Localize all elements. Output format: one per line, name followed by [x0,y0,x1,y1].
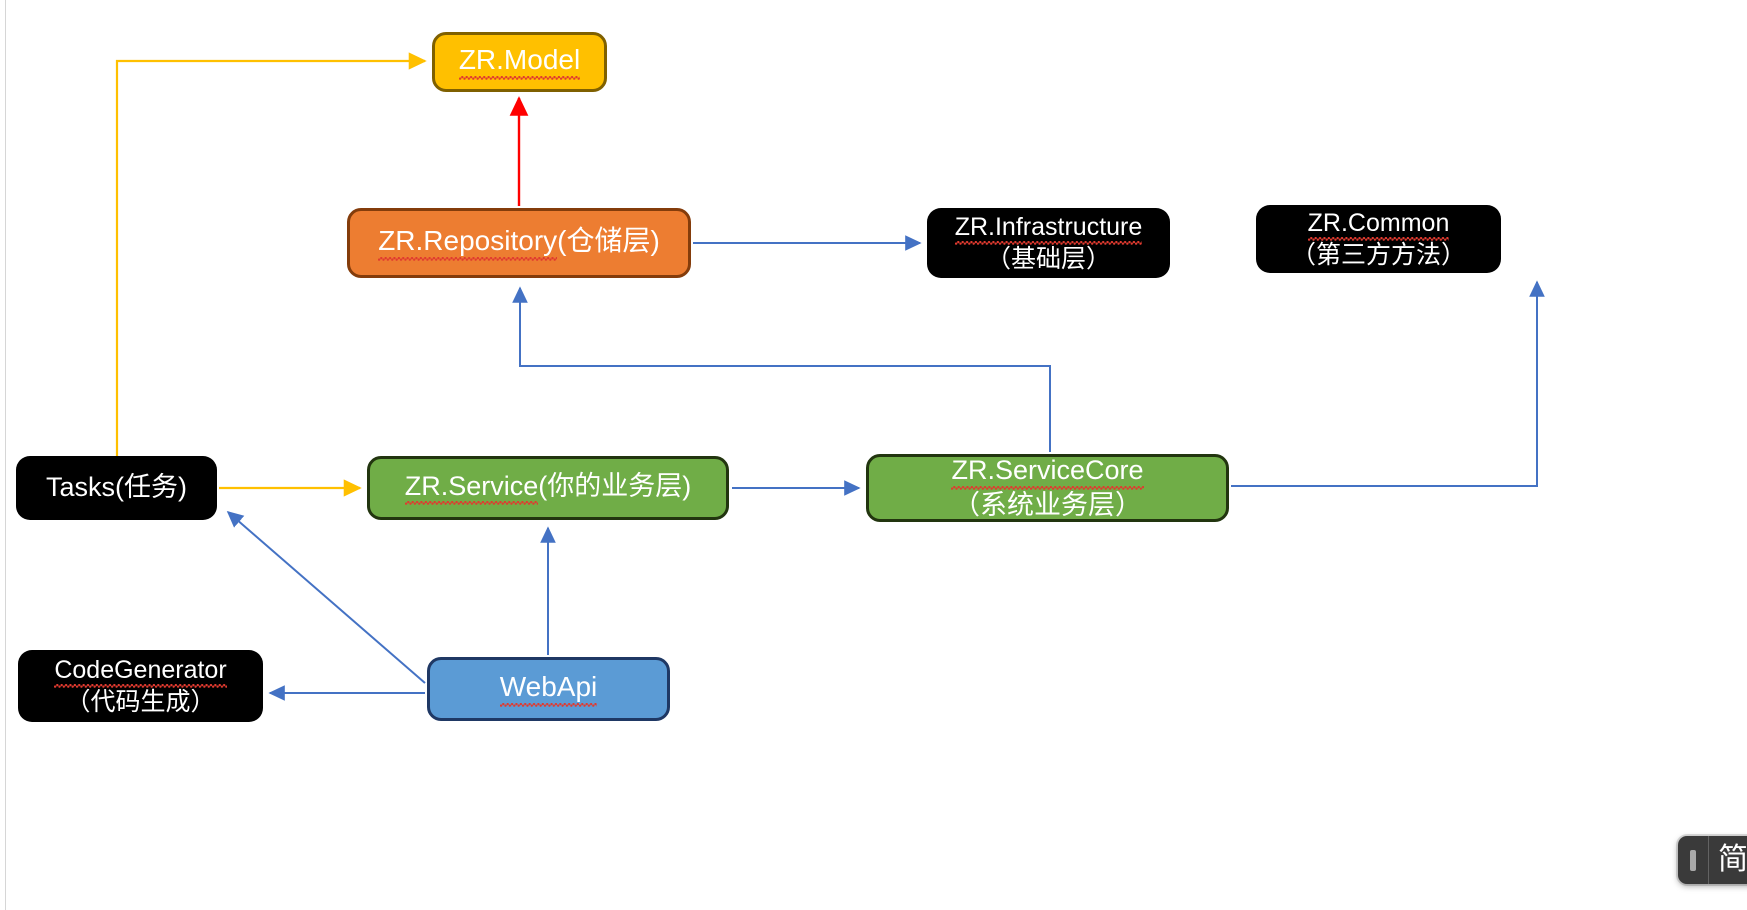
node-zr-infrastructure-sublabel: （基础层） [986,245,1111,274]
node-zr-common-label: ZR.Common [1308,209,1450,241]
node-zr-servicecore-sublabel: （系统业务层） [953,490,1142,521]
ime-drag-handle[interactable] [1678,836,1708,884]
node-codegenerator-sublabel: （代码生成） [65,688,215,717]
node-zr-service-label: ZR.Service [405,471,539,505]
edge-zr-servicecore-to-zr-repository [520,288,1050,452]
node-zr-service[interactable]: ZR.Service(你的业务层) [367,456,729,520]
ime-language-label[interactable]: 简 [1709,836,1747,884]
drag-handle-icon [1690,850,1696,871]
node-zr-repository-label: ZR.Repository [378,225,557,260]
node-codegenerator[interactable]: CodeGenerator （代码生成） [18,650,263,722]
node-tasks[interactable]: Tasks(任务) [16,456,217,520]
diagram-canvas: ZR.Model ZR.Repository(仓储层) ZR.Infrastru… [0,0,1747,910]
node-tasks-label: Tasks [46,472,115,502]
node-zr-common-sublabel: （第三方方法） [1291,241,1466,270]
node-zr-repository-suffix: (仓储层) [557,225,660,256]
node-zr-model-label: ZR.Model [459,44,580,79]
node-codegenerator-label: CodeGenerator [54,656,226,688]
page-left-edge [5,0,6,910]
node-zr-servicecore[interactable]: ZR.ServiceCore （系统业务层） [866,454,1229,522]
ime-indicator[interactable]: 简 [1678,836,1747,884]
node-tasks-suffix: (任务) [115,472,187,502]
node-zr-infrastructure[interactable]: ZR.Infrastructure （基础层） [927,208,1170,278]
node-zr-repository[interactable]: ZR.Repository(仓储层) [347,208,691,278]
node-zr-model[interactable]: ZR.Model [432,32,607,92]
node-webapi-label: WebApi [500,671,598,706]
node-zr-infrastructure-label: ZR.Infrastructure [955,213,1143,245]
node-zr-servicecore-label: ZR.ServiceCore [951,455,1143,489]
node-webapi[interactable]: WebApi [427,657,670,721]
node-zr-service-suffix: (你的业务层) [538,471,691,501]
edge-zr-servicecore-to-zr-common [1231,282,1537,486]
node-zr-common[interactable]: ZR.Common （第三方方法） [1256,205,1501,273]
